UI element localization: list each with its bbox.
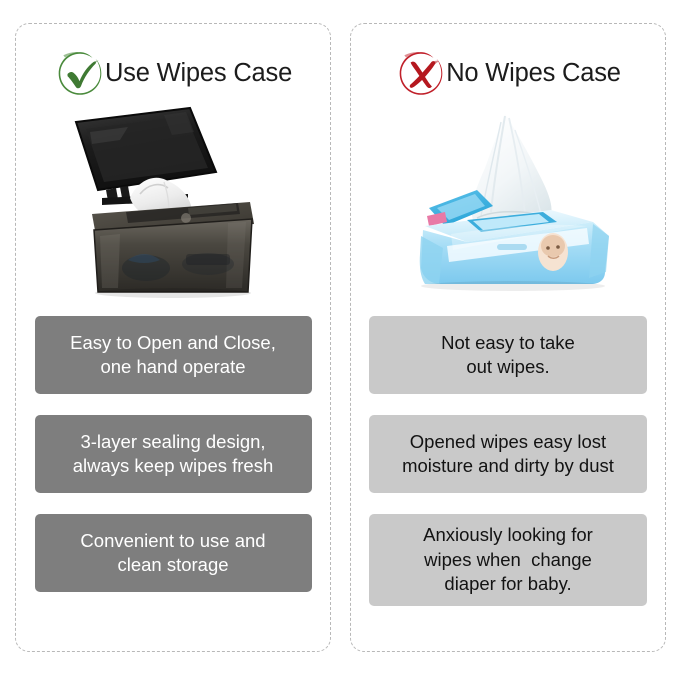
- panel-header-no-wipes-case: No Wipes Case: [351, 46, 665, 102]
- product-image-soft-wipes-pack: [351, 102, 665, 312]
- feature-convenient-clean-storage: Convenient to use and clean storage: [35, 514, 312, 592]
- feature-line: diaper for baby.: [444, 572, 571, 596]
- red-x-circle-icon: [395, 48, 447, 100]
- feature-easy-open-close: Easy to Open and Close, one hand operate: [35, 316, 312, 394]
- green-check-circle-icon: [54, 48, 106, 100]
- drawback-anxiously-looking: Anxiously looking for wipes when change …: [369, 514, 647, 606]
- feature-line: clean storage: [117, 553, 228, 577]
- drawback-lost-moisture-dust: Opened wipes easy lost moisture and dirt…: [369, 415, 647, 493]
- feature-line: always keep wipes fresh: [73, 454, 274, 478]
- drawback-not-easy-to-take-out: Not easy to take out wipes.: [369, 316, 647, 394]
- page-title-no-wipes-case: No Wipes Case: [446, 61, 621, 87]
- panel-header-use-wipes-case: Use Wipes Case: [16, 46, 330, 102]
- feature-line: Opened wipes easy lost: [410, 430, 606, 454]
- product-image-wipes-case: [16, 102, 330, 312]
- feature-list-no-wipes-case: Not easy to take out wipes. Opened wipes…: [351, 316, 665, 627]
- page-title-use-wipes-case: Use Wipes Case: [105, 61, 292, 87]
- feature-line: moisture and dirty by dust: [402, 454, 614, 478]
- panel-use-wipes-case: Use Wipes Case: [15, 23, 331, 652]
- feature-line: 3-layer sealing design,: [80, 430, 265, 454]
- feature-list-use-wipes-case: Easy to Open and Close, one hand operate…: [16, 316, 330, 613]
- feature-line: Not easy to take: [441, 331, 575, 355]
- feature-line: wipes when change: [424, 548, 592, 572]
- feature-line: one hand operate: [100, 355, 245, 379]
- feature-line: Convenient to use and: [80, 529, 265, 553]
- wipes-case-comparison: Use Wipes Case: [0, 0, 679, 679]
- panel-no-wipes-case: No Wipes Case: [350, 23, 666, 652]
- feature-line: Anxiously looking for: [423, 523, 593, 547]
- feature-line: Easy to Open and Close,: [70, 331, 276, 355]
- feature-line: out wipes.: [466, 355, 549, 379]
- feature-3-layer-sealing: 3-layer sealing design, always keep wipe…: [35, 415, 312, 493]
